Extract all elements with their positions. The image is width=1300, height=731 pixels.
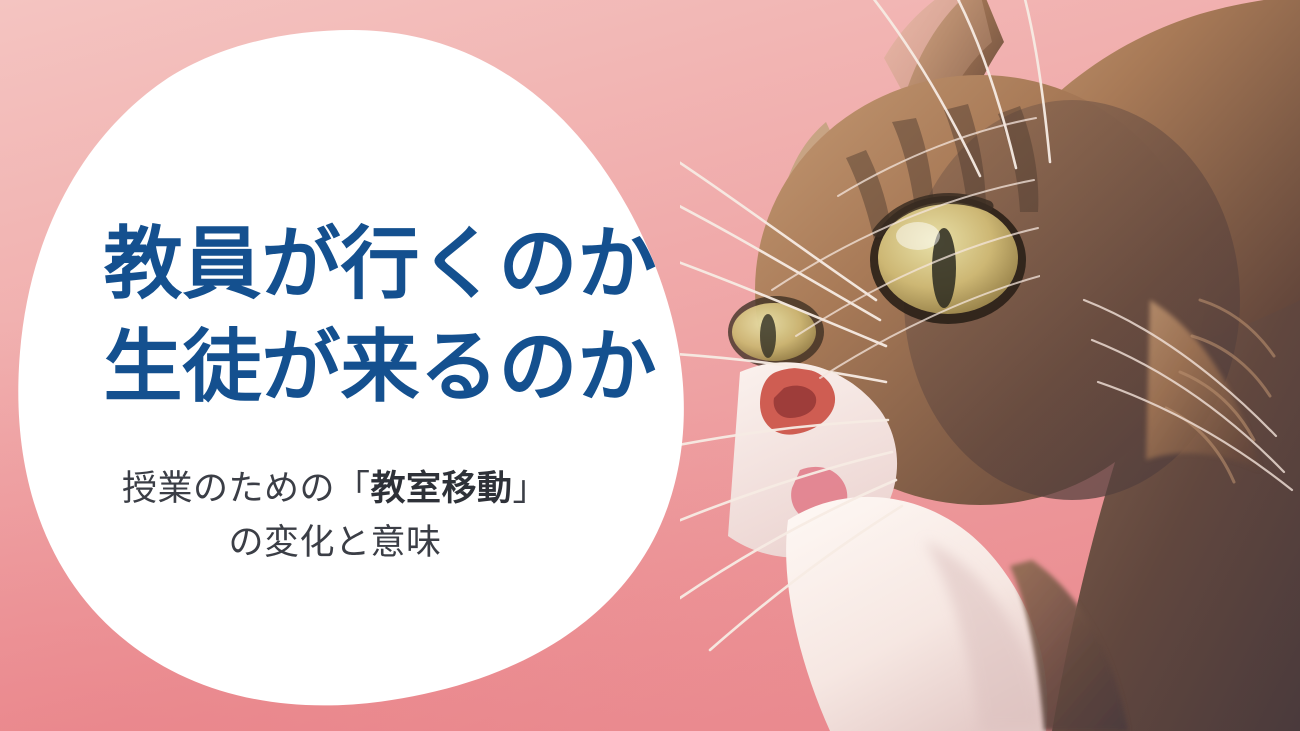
subtitle-line-2: の変化と意味 [40,516,630,570]
banner-canvas: 教員が行くのか 生徒が来るのか 授業のための「教室移動」 の変化と意味 [0,0,1300,731]
headline: 教員が行くのか 生徒が来るのか [70,212,690,418]
subtitle-prefix: 授業のための「 [122,469,371,508]
cat-photo [680,0,1300,731]
subtitle-line-1: 授業のための「教室移動」 [40,462,630,516]
headline-line-2: 生徒が来るのか [70,315,690,418]
headline-line-1: 教員が行くのか [70,212,690,315]
subtitle: 授業のための「教室移動」 の変化と意味 [40,462,630,570]
text-layer: 教員が行くのか 生徒が来るのか 授業のための「教室移動」 の変化と意味 [0,0,760,731]
subtitle-suffix: 」 [513,469,549,508]
subtitle-emphasis: 教室移動 [370,469,512,508]
